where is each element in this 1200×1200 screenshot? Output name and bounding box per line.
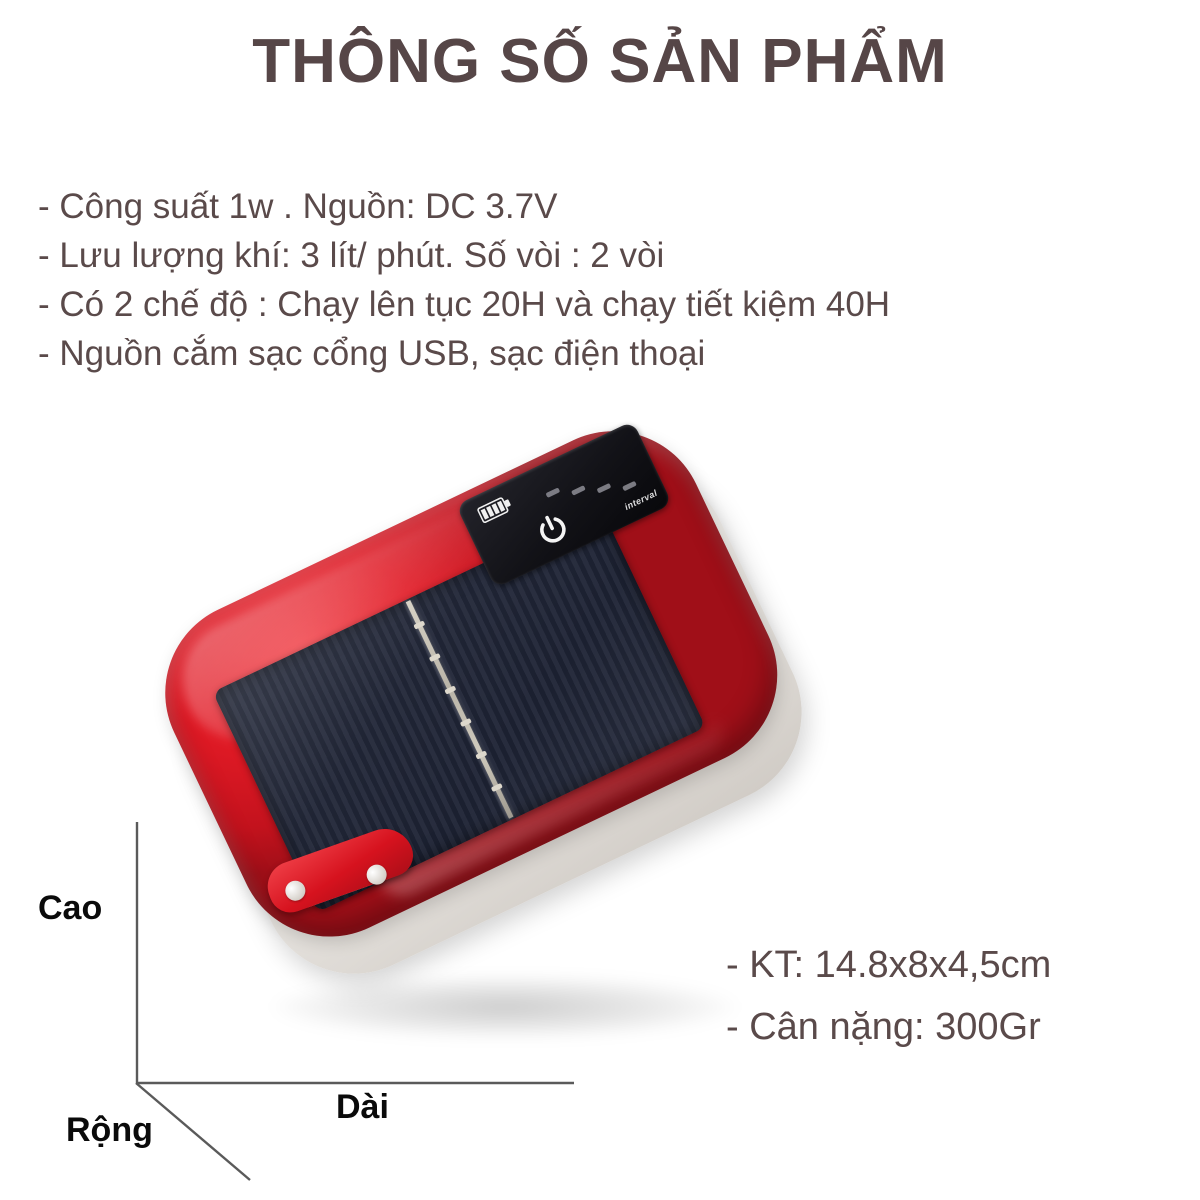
axis-label-height: Cao bbox=[38, 889, 102, 928]
axis-line-width bbox=[136, 1083, 250, 1180]
product-spec-page: THÔNG SỐ SẢN PHẨM - Công suất 1w . Nguồn… bbox=[0, 0, 1200, 1200]
battery-icon bbox=[476, 494, 514, 524]
axis-label-length: Dài bbox=[336, 1088, 389, 1127]
spec-line-airflow: - Lưu lượng khí: 3 lít/ phút. Số vòi : 2… bbox=[38, 231, 1158, 280]
solar-air-pump-device: interval bbox=[135, 395, 840, 1010]
led-indicator bbox=[545, 487, 560, 498]
spec-line-power: - Công suất 1w . Nguồn: DC 3.7V bbox=[38, 182, 1158, 231]
dimension-weight-line: - Cân nặng: 300Gr bbox=[726, 996, 1051, 1058]
dimension-text-block: - KT: 14.8x8x4,5cm - Cân nặng: 300Gr bbox=[726, 934, 1051, 1058]
axis-label-width: Rộng bbox=[66, 1111, 153, 1150]
power-icon[interactable] bbox=[532, 509, 572, 549]
spec-list: - Công suất 1w . Nguồn: DC 3.7V - Lưu lư… bbox=[38, 182, 1158, 378]
led-indicator bbox=[597, 483, 612, 494]
page-title: THÔNG SỐ SẢN PHẨM bbox=[0, 26, 1200, 97]
led-indicator bbox=[571, 485, 586, 496]
interval-label: interval bbox=[623, 488, 659, 512]
dimension-size-line: - KT: 14.8x8x4,5cm bbox=[726, 934, 1051, 996]
spec-line-modes: - Có 2 chế độ : Chạy lên tục 20H và chạy… bbox=[38, 280, 1158, 329]
spec-line-usb: - Nguồn cắm sạc cổng USB, sạc điện thoại bbox=[38, 329, 1158, 378]
led-indicator bbox=[622, 481, 637, 492]
